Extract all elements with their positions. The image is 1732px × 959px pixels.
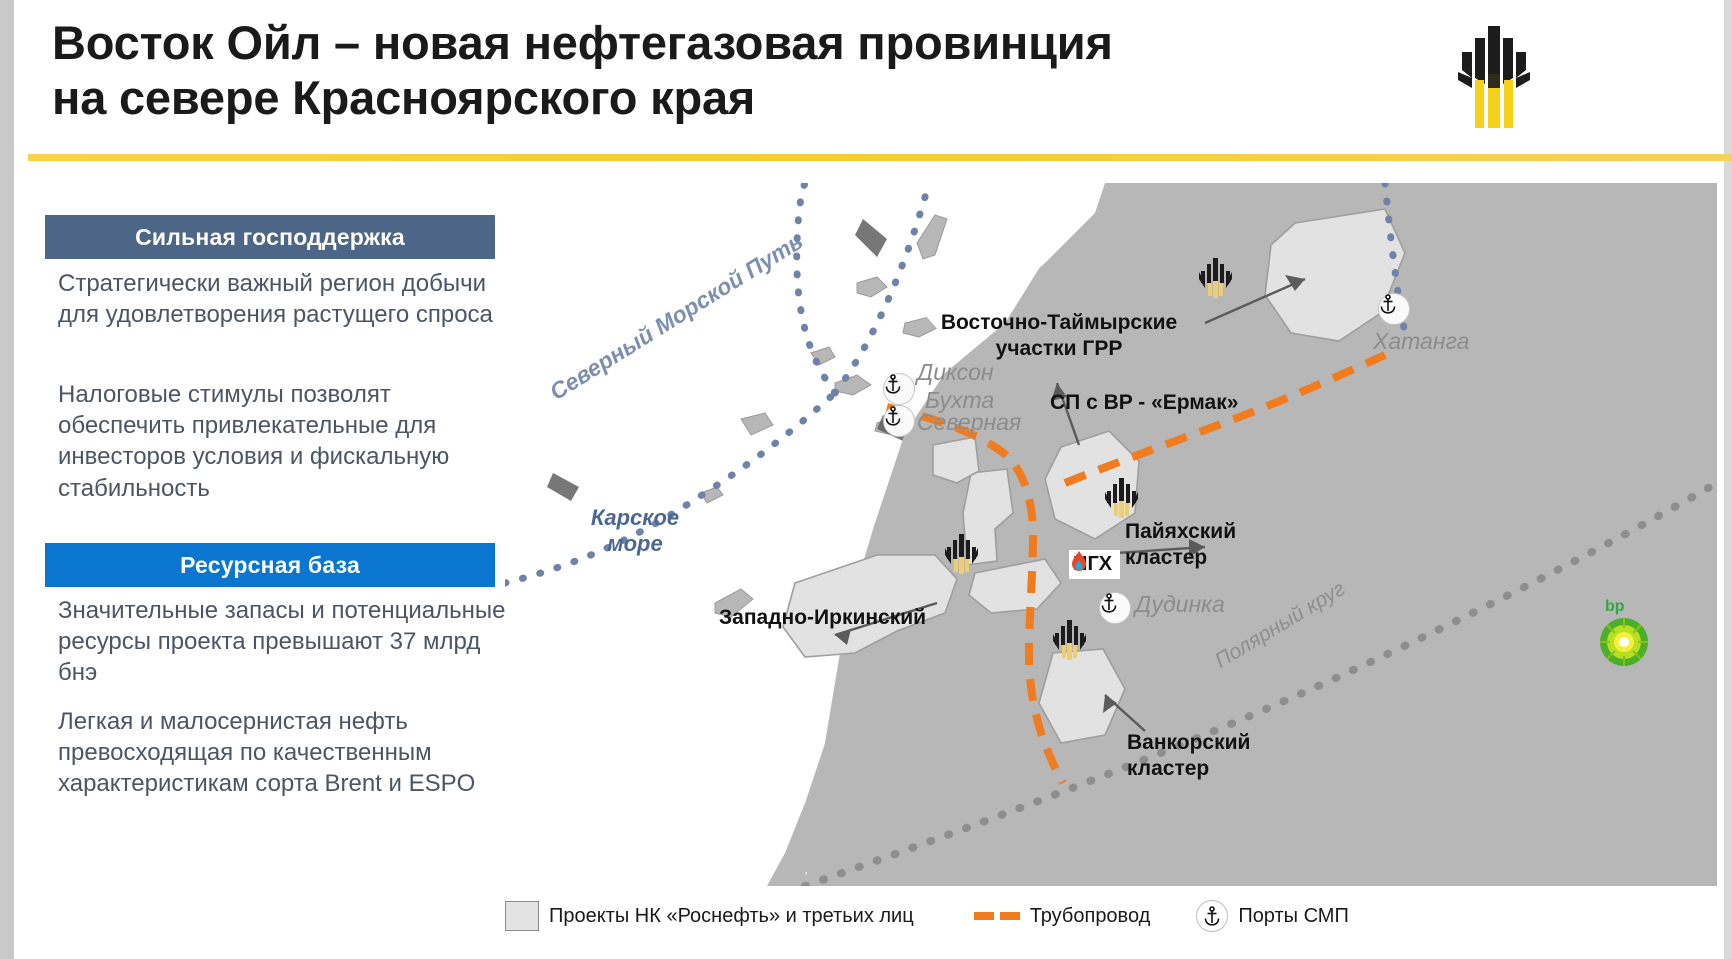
label-line2: кластер — [1125, 546, 1207, 569]
label-line2: участки ГРР — [996, 337, 1123, 360]
anchor-glyph — [1203, 906, 1221, 926]
dashed-line-icon — [974, 912, 1020, 920]
page-title-line1: Восток Ойл – новая нефтегазовая провинци… — [52, 16, 1113, 69]
bp-helios-icon — [1598, 616, 1650, 668]
port-anchor-bukhta-severnaya[interactable] — [883, 405, 915, 437]
anchor-icon — [1100, 593, 1118, 613]
city-label-dudinka: Дудинка — [1135, 591, 1225, 618]
band-label: Сильная господдержка — [135, 224, 405, 251]
square-swatch-icon — [505, 901, 539, 931]
label-vankor-cluster: Ванкорский кластер — [1127, 730, 1250, 781]
paragraph-reserves: Значительные запасы и потенциальные ресу… — [58, 595, 510, 689]
label-payakha-cluster: Пайяхский кластер — [1125, 519, 1236, 570]
page-title: Восток Ойл – новая нефтегазовая провинци… — [52, 16, 1292, 125]
label-line1: Ванкорский — [1127, 731, 1250, 754]
legend-label-ports: Порты СМП — [1238, 905, 1349, 928]
label-east-taimyr-grr: Восточно-Таймырские участки ГРР — [929, 310, 1189, 361]
legend-label-pipeline: Трубопровод — [1030, 905, 1151, 928]
paragraph-strategic-region: Стратегически важный регион добычи для у… — [58, 268, 510, 330]
anchor-icon — [1196, 900, 1228, 932]
paragraph-oil-quality: Легкая и малосернистая нефть превосходящ… — [58, 706, 510, 800]
legend-label-projects: Проекты НК «Роснефть» и третьих лиц — [549, 905, 914, 928]
slide-root: Восток Ойл – новая нефтегазовая провинци… — [0, 0, 1732, 959]
port-anchor-dudinka[interactable] — [1099, 592, 1131, 624]
left-edge-strip — [0, 0, 14, 959]
page-title-line2: на севере Красноярского края — [52, 71, 1292, 126]
bp-logo-text: bp — [1605, 598, 1625, 616]
regional-map[interactable]: bp — [505, 183, 1717, 886]
city-label-severnaya: Северная — [917, 409, 1021, 436]
anchor-icon — [1379, 294, 1397, 314]
right-edge-strip — [1724, 0, 1732, 959]
slide-header: Восток Ойл – новая нефтегазовая провинци… — [14, 0, 1724, 160]
ngkh-badge: НГХ — [1069, 550, 1120, 579]
city-label-dikson: Диксон — [917, 359, 994, 386]
rosneft-field-marker-icon — [1053, 617, 1089, 663]
band-label: Ресурсная база — [180, 552, 360, 579]
legend-item-pipeline: Трубопровод — [974, 905, 1151, 928]
rosneft-field-marker-icon — [1105, 475, 1141, 521]
map-legend: Проекты НК «Роснефть» и третьих лиц Труб… — [505, 892, 1717, 940]
section-band-resource-base: Ресурсная база — [45, 543, 495, 587]
legend-item-ports: Порты СМП — [1196, 900, 1349, 932]
legend-item-projects: Проекты НК «Роснефть» и третьих лиц — [505, 901, 914, 931]
header-divider — [28, 154, 1732, 161]
label-line2: кластер — [1127, 757, 1209, 780]
city-label-khatanga: Хатанга — [1373, 328, 1469, 355]
label-line2: море — [607, 531, 662, 556]
rosneft-field-marker-icon — [945, 531, 981, 577]
anchor-icon — [884, 374, 902, 394]
port-anchor-khatanga[interactable] — [1378, 293, 1410, 325]
label-line1: Карское — [591, 505, 679, 530]
paragraph-tax-incentives: Налоговые стимулы позволят обеспечить пр… — [58, 379, 510, 504]
rosneft-field-marker-icon — [1199, 255, 1235, 301]
anchor-icon — [884, 406, 902, 426]
rosneft-logo — [1450, 14, 1540, 134]
label-kara-sea: Карское море — [575, 505, 695, 558]
label-bp-joint-venture: СП с BP - «Ермак» — [1050, 390, 1238, 416]
label-line1: Пайяхский — [1125, 520, 1236, 543]
section-band-government-support: Сильная господдержка — [45, 215, 495, 259]
port-anchor-dikson[interactable] — [883, 373, 915, 405]
ngkh-flame-icon — [1069, 550, 1089, 574]
label-zapadno-irkinsky: Западно-Иркинский — [719, 605, 926, 631]
label-line1: Восточно-Таймырские — [941, 311, 1177, 334]
